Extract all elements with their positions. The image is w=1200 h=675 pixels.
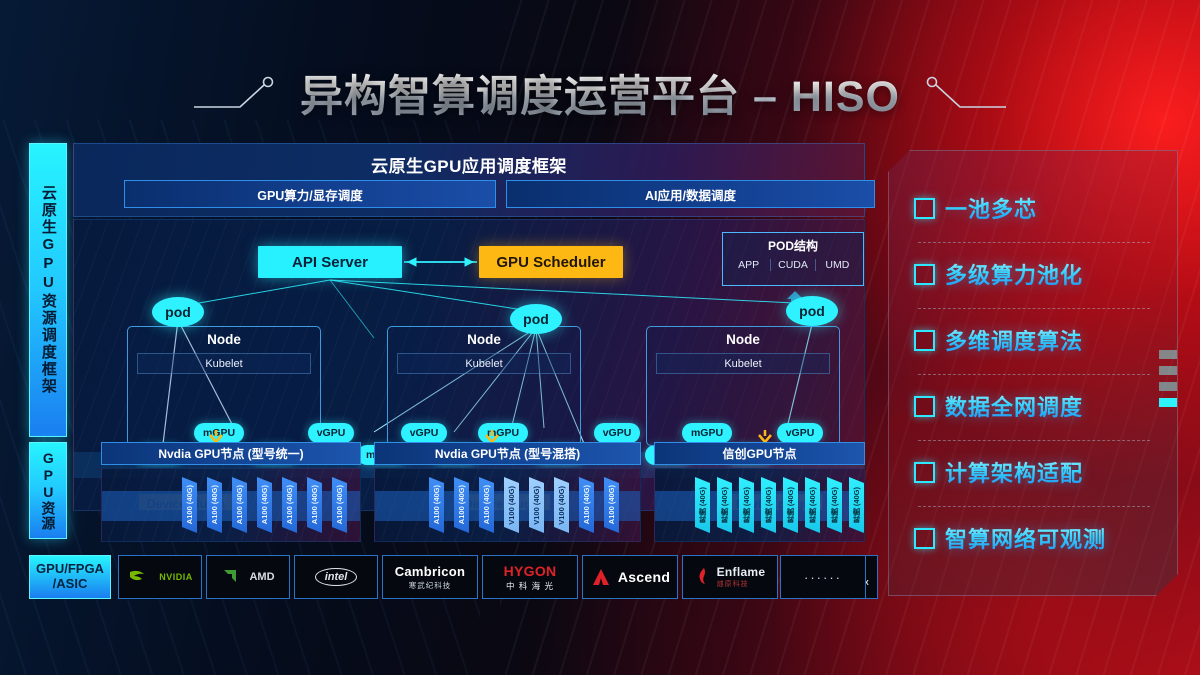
- feature-label: 多级算力池化: [945, 258, 1083, 290]
- node-name: Node: [388, 332, 580, 347]
- gpu-resource-area: Nvdia GPU节点 (型号统一) A100 (40G) A100 (40G)…: [73, 442, 863, 544]
- feature-label: 一池多芯: [945, 192, 1037, 224]
- vendor-amd-label: AMD: [249, 571, 274, 583]
- checkbox-icon: [914, 330, 935, 351]
- sidebar-label-scheduling-framework: 云原生GPU资源调度框架: [29, 143, 67, 437]
- gpu-card[interactable]: A100 (40G): [182, 477, 197, 533]
- gpu-group-well: A100 (40G) A100 (40G) A100 (40G) A100 (4…: [101, 468, 361, 542]
- vendor-hygon-label: HYGON: [504, 563, 557, 579]
- feature-divider: [918, 308, 1150, 309]
- vendor-ascend[interactable]: Ascend: [582, 555, 678, 599]
- kubelet-bar: Kubelet: [137, 353, 311, 374]
- vendor-logo-row: GPU/FPGA /ASIC NVIDIA AMD intel Cambrico…: [29, 555, 863, 597]
- pod-structure-title: POD结构: [723, 237, 863, 254]
- page-title: 异构智算调度运营平台 – HISO: [300, 62, 900, 124]
- gpu-card[interactable]: 昇腾 (40G): [739, 477, 754, 533]
- feature-divider: [918, 242, 1150, 243]
- pod-node2[interactable]: pod: [510, 304, 562, 334]
- architecture-board: 云原生GPU资源调度框架 GPU资源 云原生GPU应用调度框架 GPU算力/显存…: [29, 143, 863, 599]
- vendor-enflame[interactable]: Enflame 燧原科技: [682, 555, 778, 599]
- checkbox-icon: [914, 396, 935, 417]
- feature-item-6[interactable]: 智算网络可观测: [914, 518, 1164, 558]
- gpu-card[interactable]: A100 (40G): [579, 477, 594, 533]
- panel-notch: [1159, 366, 1177, 375]
- title-right-decoration: [916, 73, 1006, 113]
- vendor-enflame-label: Enflame: [717, 565, 766, 579]
- node-name: Node: [128, 332, 320, 347]
- vendor-row-label-line1: GPU/FPGA: [36, 562, 104, 577]
- pod-cell-umd: UMD: [816, 259, 859, 271]
- gpu-card[interactable]: A100 (40G): [282, 477, 297, 533]
- vendor-cambricon[interactable]: Cambricon 寒武纪科技: [382, 555, 478, 599]
- gpu-card[interactable]: A100 (40G): [332, 477, 347, 533]
- vendor-cambricon-label: Cambricon: [395, 564, 466, 579]
- sidebar-label-gpu-resource-text: GPU资源: [41, 450, 56, 531]
- gpu-card[interactable]: 昇腾 (40G): [827, 477, 842, 533]
- feature-item-1[interactable]: 一池多芯: [914, 188, 1164, 228]
- gpu-card[interactable]: A100 (40G): [207, 477, 222, 533]
- gpu-group-well: A100 (40G) A100 (40G) A100 (40G) V100 (4…: [374, 468, 641, 542]
- framework-title: 云原生GPU应用调度框架: [74, 152, 864, 177]
- framework-bar-compute[interactable]: GPU算力/显存调度: [124, 180, 496, 208]
- vendor-hygon-sub: 中 科 海 光: [506, 580, 554, 592]
- pod-structure-cells: APP CUDA UMD: [727, 259, 859, 271]
- gpu-group-header[interactable]: Nvdia GPU节点 (型号统一): [101, 442, 361, 465]
- feature-divider: [918, 374, 1150, 375]
- framework-header-panel: 云原生GPU应用调度框架 GPU算力/显存调度 AI应用/数据调度: [73, 143, 865, 217]
- title-bar: 异构智算调度运营平台 – HISO: [0, 62, 1200, 124]
- vendor-cambricon-sub: 寒武纪科技: [409, 580, 452, 591]
- gpu-card[interactable]: V100 (40G): [504, 477, 519, 533]
- feature-divider: [918, 440, 1150, 441]
- nvidia-logo-icon: [127, 567, 153, 587]
- feature-item-2[interactable]: 多级算力池化: [914, 254, 1164, 294]
- panel-notch: [1159, 382, 1177, 391]
- feature-list: 一池多芯 多级算力池化 多维调度算法 数据全网调度 计算架构适配 智算网络可观测: [888, 150, 1176, 594]
- vendor-hygon[interactable]: HYGON 中 科 海 光: [482, 555, 578, 599]
- slide-canvas: 异构智算调度运营平台 – HISO 云原生GPU资源调度框架 GPU资源 云原生…: [0, 0, 1200, 675]
- gpu-card[interactable]: V100 (40G): [554, 477, 569, 533]
- gpu-card[interactable]: A100 (40G): [307, 477, 322, 533]
- feature-item-4[interactable]: 数据全网调度: [914, 386, 1164, 426]
- title-left-decoration: [194, 73, 284, 113]
- checkbox-icon: [914, 264, 935, 285]
- vendor-amd[interactable]: AMD: [206, 555, 290, 599]
- ascend-logo-icon: [590, 567, 612, 587]
- pod-cell-cuda: CUDA: [771, 259, 815, 271]
- panel-notch: [1159, 350, 1177, 359]
- gpu-card[interactable]: 昇腾 (40G): [717, 477, 732, 533]
- panel-notch-active: [1159, 398, 1177, 407]
- gpu-card[interactable]: 昇腾 (40G): [783, 477, 798, 533]
- checkbox-icon: [914, 528, 935, 549]
- kubelet-bar: Kubelet: [656, 353, 830, 374]
- feature-item-3[interactable]: 多维调度算法: [914, 320, 1164, 360]
- gpu-card[interactable]: 昇腾 (40G): [761, 477, 776, 533]
- gpu-card[interactable]: V100 (40G): [529, 477, 544, 533]
- checkbox-icon: [914, 198, 935, 219]
- kubelet-bar: Kubelet: [397, 353, 571, 374]
- gpu-group-header[interactable]: Nvdia GPU节点 (型号混搭): [374, 442, 641, 465]
- api-server-node[interactable]: API Server: [258, 246, 402, 278]
- vendor-more-label: ······: [804, 570, 842, 585]
- framework-bar-ai-app[interactable]: AI应用/数据调度: [506, 180, 875, 208]
- gpu-card[interactable]: 昇腾 (40G): [695, 477, 710, 533]
- amd-logo-icon: [221, 567, 243, 587]
- vendor-intel[interactable]: intel: [294, 555, 378, 599]
- feature-label: 多维调度算法: [945, 324, 1083, 356]
- feature-label: 智算网络可观测: [945, 522, 1106, 554]
- feature-label: 计算架构适配: [945, 456, 1083, 488]
- gpu-card[interactable]: A100 (40G): [232, 477, 247, 533]
- gpu-card[interactable]: 昇腾 (40G): [849, 477, 864, 533]
- gpu-card[interactable]: A100 (40G): [429, 477, 444, 533]
- pod-structure-box: POD结构 APP CUDA UMD: [722, 232, 864, 286]
- vendor-enflame-sub: 燧原科技: [717, 579, 766, 589]
- gpu-scheduler-node[interactable]: GPU Scheduler: [479, 246, 623, 278]
- pod-node3[interactable]: pod: [786, 296, 838, 326]
- sidebar-label-scheduling-framework-text: 云原生GPU资源调度框架: [40, 185, 56, 395]
- gpu-card[interactable]: A100 (40G): [604, 477, 619, 533]
- feature-item-5[interactable]: 计算架构适配: [914, 452, 1164, 492]
- node-name: Node: [647, 332, 839, 347]
- gpu-group-well: 昇腾 (40G) 昇腾 (40G) 昇腾 (40G) 昇腾 (40G) 昇腾 (…: [654, 468, 865, 542]
- vendor-row-label: GPU/FPGA /ASIC: [29, 555, 111, 599]
- vendor-intel-label: intel: [315, 568, 358, 586]
- pod-node1[interactable]: pod: [152, 297, 204, 327]
- gpu-group-header[interactable]: 信创GPU节点: [654, 442, 865, 465]
- gpu-card[interactable]: 昇腾 (40G): [805, 477, 820, 533]
- feature-label: 数据全网调度: [945, 390, 1083, 422]
- sidebar-label-gpu-resource: GPU资源: [29, 442, 67, 539]
- gpu-card[interactable]: A100 (40G): [454, 477, 469, 533]
- enflame-logo-icon: [695, 567, 711, 587]
- vendor-more[interactable]: ······: [780, 555, 866, 599]
- vendor-nvidia-label: NVIDIA: [159, 572, 193, 582]
- vendor-row-label-line2: /ASIC: [53, 577, 88, 592]
- feature-divider: [918, 506, 1150, 507]
- vendor-ascend-label: Ascend: [618, 569, 670, 585]
- gpu-card[interactable]: A100 (40G): [257, 477, 272, 533]
- checkbox-icon: [914, 462, 935, 483]
- pod-cell-app: APP: [727, 259, 771, 271]
- gpu-card[interactable]: A100 (40G): [479, 477, 494, 533]
- vendor-nvidia[interactable]: NVIDIA: [118, 555, 202, 599]
